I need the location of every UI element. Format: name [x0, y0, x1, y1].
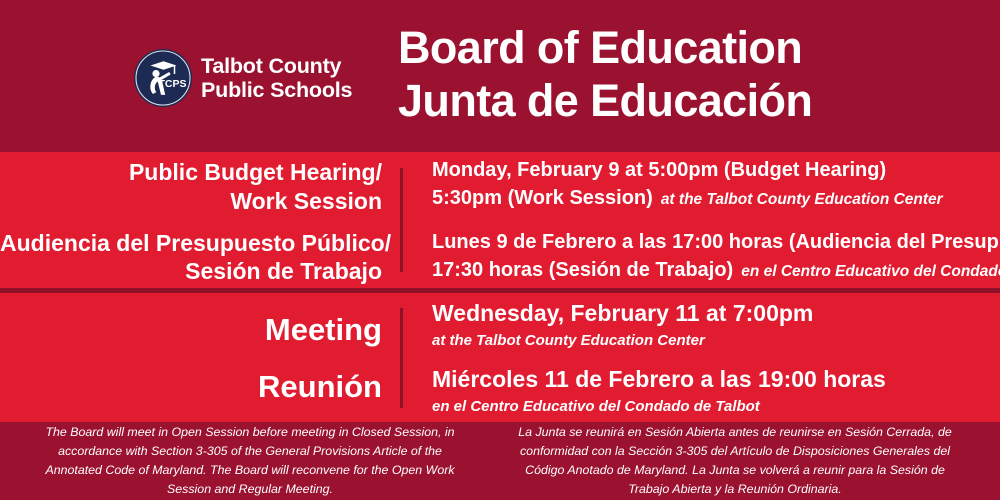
- event-2-label-english-text: Meeting: [0, 310, 382, 350]
- event-1-label-english: Public Budget Hearing/ Work Session: [0, 158, 382, 216]
- event-1-details-english: Monday, February 9 at 5:00pm (Budget Hea…: [432, 156, 1000, 213]
- event-2-datetime-spanish: Miércoles 11 de Febrero a las 19:00 hora…: [432, 365, 1000, 395]
- event-1-details: Monday, February 9 at 5:00pm (Budget Hea…: [403, 152, 1000, 288]
- event-row-budget-hearing: Public Budget Hearing/ Work Session Audi…: [0, 152, 1000, 288]
- event-1-label-spanish-line2: Sesión de Trabajo: [0, 257, 382, 286]
- event-2-label-spanish: Reunión: [0, 367, 382, 407]
- event-1-datetime-spanish-line2: 17:30 horas (Sesión de Trabajo)en el Cen…: [432, 256, 1000, 284]
- event-1-venue-spanish: en el Centro Educativo del Condado de Ta…: [741, 263, 1000, 280]
- page-title-english: Board of Education: [398, 22, 978, 75]
- tcps-logo: TCPS Talbot County Public Schools: [134, 49, 352, 107]
- footer-disclaimer-english: The Board will meet in Open Session befo…: [15, 423, 485, 498]
- footer-disclaimer-spanish: La Junta se reunirá en Sesión Abierta an…: [485, 423, 985, 498]
- event-row-meeting: Meeting Reunión Wednesday, February 11 a…: [0, 293, 1000, 422]
- poster-footer: The Board will meet in Open Session befo…: [0, 422, 1000, 500]
- event-2-datetime-english: Wednesday, February 11 at 7:00pm: [432, 299, 1000, 329]
- event-2-label-spanish-text: Reunión: [0, 367, 382, 407]
- page-title-spanish: Junta de Educación: [398, 75, 978, 128]
- event-2-label-english: Meeting: [0, 310, 382, 350]
- event-1-datetime-spanish-line1: Lunes 9 de Febrero a las 17:00 horas (Au…: [432, 228, 1000, 256]
- event-1-label-english-line1: Public Budget Hearing/: [0, 158, 382, 187]
- poster-header: TCPS Talbot County Public Schools Board …: [0, 0, 1000, 152]
- event-1-label: Public Budget Hearing/ Work Session Audi…: [0, 152, 400, 288]
- event-1-datetime-english-line2: 5:30pm (Work Session)at the Talbot Count…: [432, 184, 1000, 212]
- event-2-venue-english: at the Talbot County Education Center: [432, 331, 1000, 351]
- event-2-details-spanish: Miércoles 11 de Febrero a las 19:00 hora…: [432, 365, 1000, 416]
- event-1-label-english-line2: Work Session: [0, 187, 382, 216]
- event-2-label: Meeting Reunión: [0, 293, 400, 422]
- svg-text:TCPS: TCPS: [158, 78, 186, 90]
- event-1-label-spanish-line1: Audiencia del Presupuesto Público/: [0, 229, 382, 258]
- event-1-details-spanish: Lunes 9 de Febrero a las 17:00 horas (Au…: [432, 228, 1000, 285]
- event-1-worksession-time-english: 5:30pm (Work Session): [432, 187, 653, 209]
- tcps-logo-text: Talbot County Public Schools: [201, 54, 352, 102]
- event-1-worksession-time-spanish: 17:30 horas (Sesión de Trabajo): [432, 259, 733, 281]
- tcps-graduate-emblem-icon: TCPS: [134, 49, 192, 107]
- event-1-datetime-english-line1: Monday, February 9 at 5:00pm (Budget Hea…: [432, 156, 1000, 184]
- tcps-logo-line2: Public Schools: [201, 78, 352, 102]
- event-2-venue-spanish: en el Centro Educativo del Condado de Ta…: [432, 397, 1000, 417]
- page-title: Board of Education Junta de Educación: [398, 22, 978, 127]
- board-of-education-announcement-poster: TCPS Talbot County Public Schools Board …: [0, 0, 1000, 500]
- event-2-details: Wednesday, February 11 at 7:00pm at the …: [403, 293, 1000, 422]
- event-1-label-spanish: Audiencia del Presupuesto Público/ Sesió…: [0, 229, 382, 287]
- tcps-logo-line1: Talbot County: [201, 54, 352, 78]
- event-1-venue-english: at the Talbot County Education Center: [661, 191, 943, 208]
- event-2-details-english: Wednesday, February 11 at 7:00pm at the …: [432, 299, 1000, 350]
